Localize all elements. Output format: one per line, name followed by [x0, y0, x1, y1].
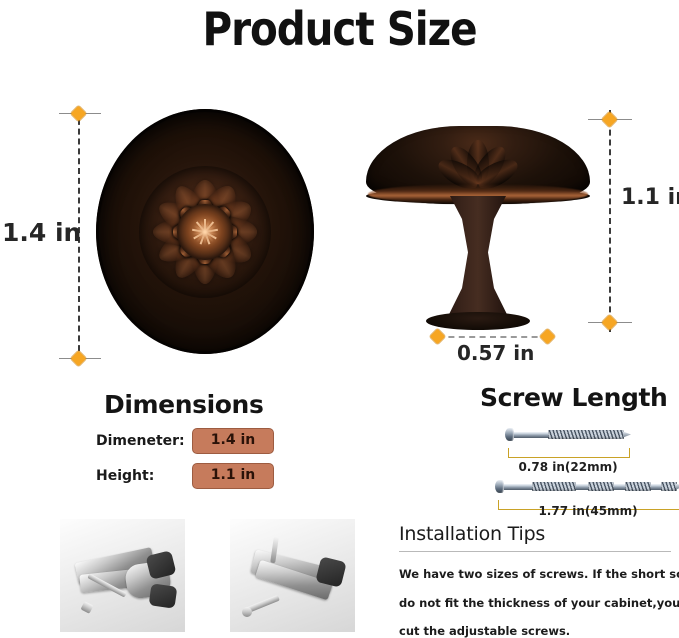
screw-thread [661, 482, 677, 491]
diameter-label: 1.4 in [2, 218, 81, 247]
page-title: Product Size [41, 2, 639, 56]
diameter-marker-bottom [71, 351, 87, 367]
height-marker-bottom [602, 315, 618, 331]
dimensions-heading: Dimensions [104, 390, 263, 419]
installation-tips-heading: Installation Tips [399, 523, 671, 545]
long-screw-icon [495, 480, 679, 493]
dimension-row-value-badge: 1.4 in [192, 428, 274, 453]
table-row: Dimeneter: 1.4 in [96, 428, 346, 454]
knob-rim [96, 109, 314, 354]
base-width-marker-left [430, 329, 446, 345]
dimension-row-value-badge: 1.1 in [192, 463, 274, 488]
installation-tips-divider [399, 551, 671, 552]
knob-side-view-image [366, 126, 590, 330]
screw-shank [651, 484, 661, 490]
screw-shank [576, 484, 588, 490]
installation-tips-block: Installation Tips We have two sizes of s… [399, 523, 671, 638]
plier-handle-grip [149, 583, 178, 608]
photo-cutting-screw-with-pliers [60, 519, 185, 632]
diameter-marker-top [71, 106, 87, 122]
screw-head [495, 480, 504, 493]
dimension-row-label: Height: [96, 468, 192, 484]
installation-tips-line: We have two sizes of screws. If the shor… [399, 569, 671, 581]
screw-tip [623, 432, 631, 438]
installation-tips-line: do not fit the thickness of your cabinet… [399, 598, 671, 610]
base-width-dimension-line [438, 336, 548, 338]
height-marker-top [602, 112, 618, 128]
long-screw-caption: 1.77 in(45mm) [518, 504, 658, 518]
knob-stem [428, 196, 528, 324]
photo-cut-screw-result [230, 519, 355, 632]
screw-length-heading: Screw Length [480, 383, 667, 412]
short-screw-caption: 0.78 in(22mm) [498, 460, 638, 474]
knob-top-view-image [96, 109, 314, 354]
screw-head [505, 428, 514, 441]
short-screw-icon [505, 428, 631, 441]
screw-length-diagram: 0.78 in(22mm) 1.77 in(45mm) [400, 420, 679, 515]
table-row: Height: 1.1 in [96, 463, 346, 489]
screw-thread [532, 482, 576, 491]
dimension-row-label: Dimeneter: [96, 433, 192, 449]
dimensions-table: Dimeneter: 1.4 in Height: 1.1 in [96, 428, 346, 498]
screw-shank [614, 484, 625, 490]
base-width-marker-right [540, 329, 556, 345]
base-width-label: 0.57 in [457, 341, 534, 365]
screw-shank [514, 432, 548, 438]
height-dimension-line [609, 110, 611, 332]
short-screw-dimension-bracket [508, 448, 630, 458]
screw-head-in-photo [242, 607, 252, 617]
screw-shank [504, 484, 532, 490]
product-size-infographic: Product Size [0, 0, 679, 636]
height-label: 1.1 in [621, 185, 679, 210]
screw-thread [588, 482, 614, 491]
knob-disc [96, 109, 314, 354]
knob-base [426, 312, 530, 330]
screw-thread [548, 430, 624, 439]
screw-thread [625, 482, 651, 491]
